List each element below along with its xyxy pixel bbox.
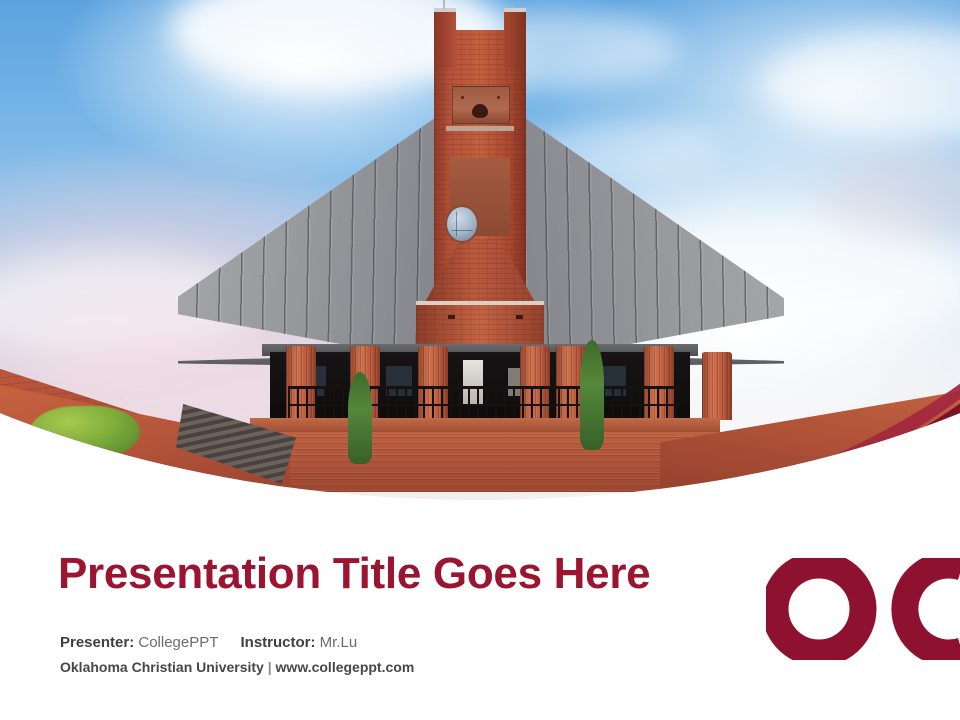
presenter-label: Presenter: [60, 634, 134, 651]
website-url[interactable]: www.collegeppt.com [276, 659, 415, 675]
oc-logo [766, 558, 960, 660]
logo-letter-c [905, 565, 960, 653]
page-title: Presentation Title Goes Here [58, 549, 650, 599]
presenter-line: Presenter: CollegePPT Instructor: Mr.Lu [60, 634, 357, 651]
hero-photo [0, 0, 960, 500]
title-slide: Presentation Title Goes Here Presenter: … [0, 0, 960, 720]
band-light-stripe [0, 0, 960, 500]
university-name: Oklahoma Christian University [60, 659, 264, 675]
presenter-name: CollegePPT [138, 634, 218, 651]
affiliation-line: Oklahoma Christian University | www.coll… [60, 659, 414, 675]
instructor-name: Mr.Lu [320, 634, 358, 651]
separator: | [268, 659, 272, 675]
curved-accent-band [0, 0, 960, 500]
logo-letter-o [775, 565, 863, 653]
instructor-label: Instructor: [241, 634, 316, 651]
oc-monogram-icon [766, 558, 960, 660]
